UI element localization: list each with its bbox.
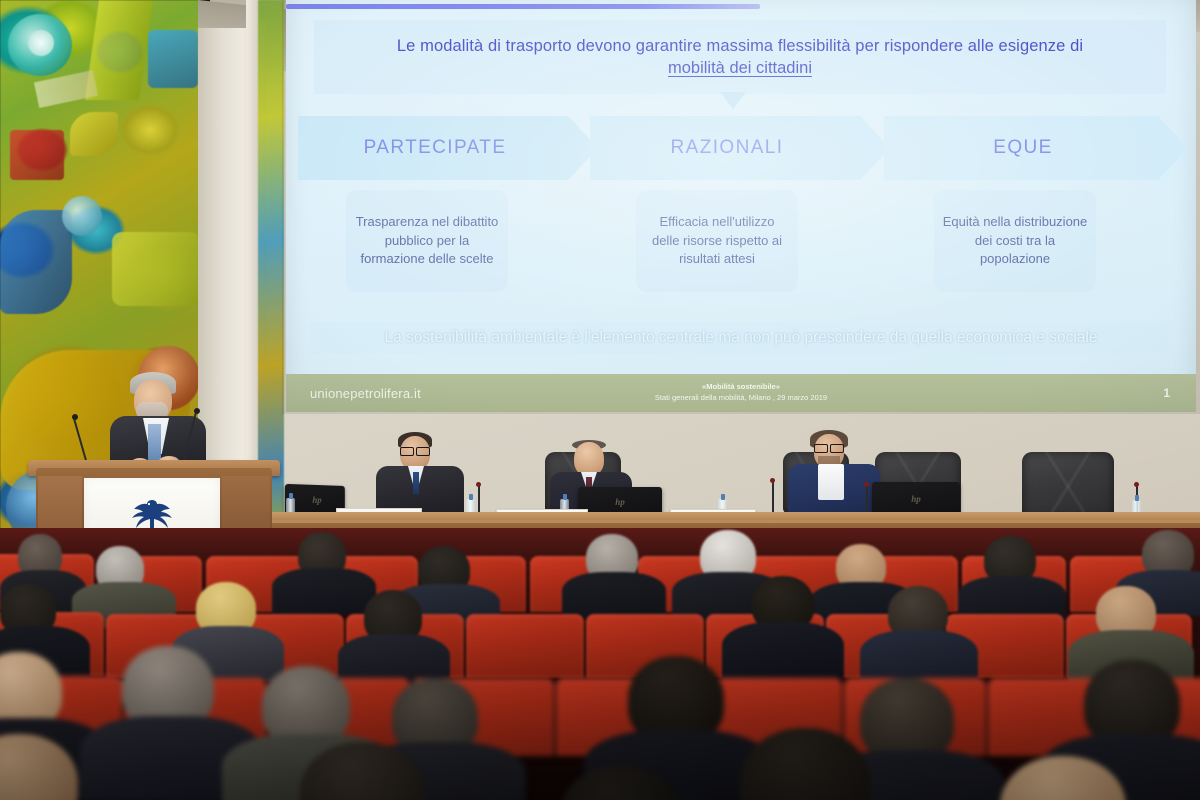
microphone-icon [476,482,481,487]
footer-page-number: 1 [1163,386,1170,400]
slide-statement-box: Le modalità di trasporto devono garantir… [314,20,1166,94]
chevron-label: EQUE [884,137,1188,159]
slide-title-rule [286,4,760,9]
laptop: hp [872,482,960,516]
conference-photo-scene: Le modalità di trasporto devono garantir… [0,0,1200,800]
card-equita: Equità nella distribuzione dei costi tra… [934,190,1096,292]
panelist-head [574,442,604,476]
chevron-label: PARTECIPATE [298,137,598,159]
chevron-eque: EQUE [884,116,1188,180]
slide-footer: unionepetrolifera.it «Mobilità sostenibi… [286,374,1196,412]
card-trasparenza: Trasparenza nel dibattito pubblico per l… [346,190,508,292]
chevron-label: RAZIONALI [590,137,890,159]
chevron-row: PARTECIPATE RAZIONALI EQUE [294,116,1188,182]
chevron-razionali: RAZIONALI [590,116,890,180]
speaker-tie [148,424,161,460]
chair-stitching [1022,452,1114,518]
microphone-icon [72,414,78,420]
mural-shape [0,210,72,314]
mural-shape [70,112,118,156]
empty-chair [1022,452,1114,518]
table-microphone-stand [478,486,480,512]
microphone-icon [770,478,775,483]
down-arrow-icon [720,92,746,109]
mural-shape [148,30,198,88]
glasses-icon [400,447,430,454]
audience-area [0,528,1200,800]
mural-shape [112,232,200,306]
glasses-icon [814,444,844,451]
statement-line-1: Le modalità di trasporto devono garantir… [397,37,1083,56]
microphone-icon [1134,482,1139,487]
hp-logo: hp [312,495,321,505]
mural-shape [62,196,102,236]
slide-bottom-statement: La sostenibilità ambientale è l'elemento… [310,322,1172,354]
bottom-statement-text: La sostenibilità ambientale è l'elemento… [385,329,1098,347]
microphone-icon [194,408,200,414]
mural-shape [10,130,64,180]
table-microphone-stand [772,482,774,514]
audience-rows-front [0,528,1200,800]
eagle-icon [130,498,174,532]
statement-line-2: mobilità dei cittadini [668,59,812,78]
mural-right-sliver [258,0,284,536]
slide-cards: Trasparenza nel dibattito pubblico per l… [286,190,1196,298]
microphone-icon [864,482,869,487]
projected-slide: Le modalità di trasporto devono garantir… [286,0,1196,412]
panelist-tie [413,472,419,494]
table-microphone-stand [866,486,868,514]
panelist-shirt [818,464,844,500]
hp-logo: hp [615,497,625,507]
hp-logo: hp [911,494,921,504]
chevron-partecipate: PARTECIPATE [298,116,598,180]
footer-event-subtitle: Stati generali della mobilità, Milano , … [655,393,827,402]
footer-event-title: «Mobilità sostenibile» [286,382,1196,393]
card-efficacia: Efficacia nell'utilizzo delle risorse ri… [636,190,798,292]
footer-event: «Mobilità sostenibile» Stati generali de… [286,382,1196,404]
mural-shape [28,30,54,56]
